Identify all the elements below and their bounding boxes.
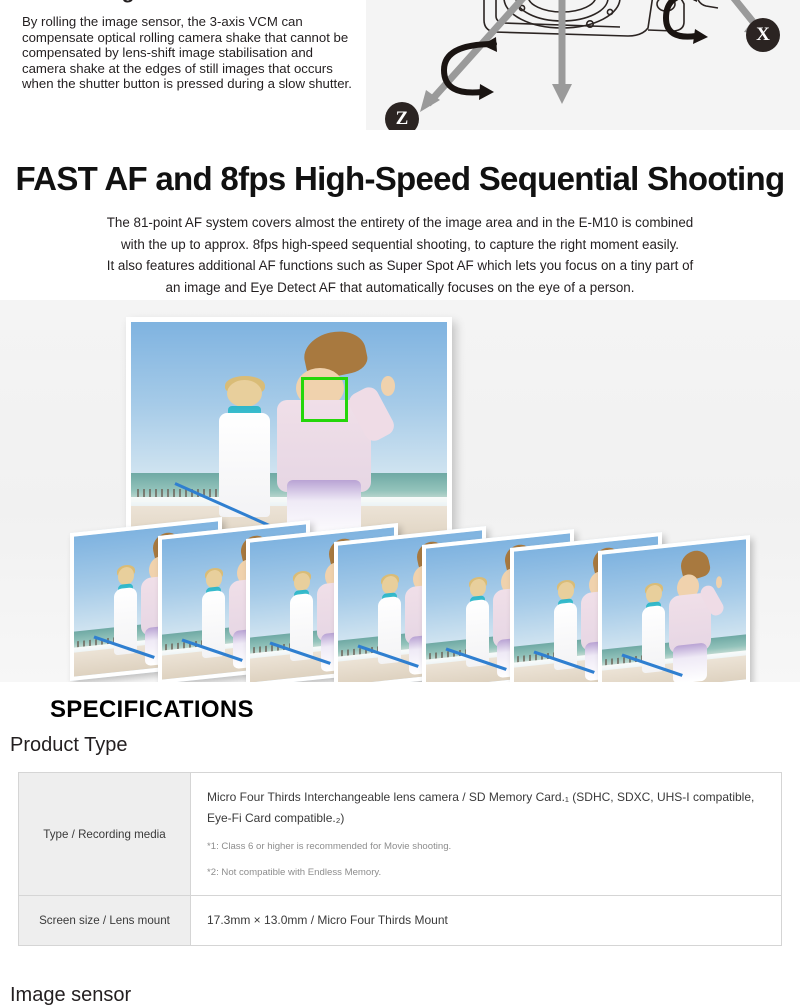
spec-row-label: Type / Recording media <box>19 773 191 896</box>
spec-footnote: *2: Not compatible with Endless Memory. <box>207 864 765 881</box>
table-row: Screen size / Lens mount 17.3mm × 13.0mm… <box>19 896 782 946</box>
spec-group-heading: Product Type <box>10 734 127 757</box>
af-paragraph-line: The 81-point AF system covers almost the… <box>60 212 740 234</box>
image-stabilisation-section: 3-axis Image Stabilisation By rolling th… <box>0 0 800 150</box>
specifications-title: SPECIFICATIONS <box>50 696 254 724</box>
burst-photo-card <box>598 535 750 682</box>
af-section-heading: FAST AF and 8fps High-Speed Sequential S… <box>0 160 800 198</box>
camera-axis-diagram-svg <box>366 0 800 130</box>
spec-row-value: Micro Four Thirds Interchangeable lens c… <box>191 773 782 896</box>
af-focus-box <box>301 377 348 422</box>
stabilisation-description: By rolling the image sensor, the 3-axis … <box>22 14 352 92</box>
spec-value-text: Micro Four Thirds Interchangeable lens c… <box>207 787 765 829</box>
spec-row-label: Screen size / Lens mount <box>19 896 191 946</box>
table-row: Type / Recording media Micro Four Thirds… <box>19 773 782 896</box>
af-section-paragraph: The 81-point AF system covers almost the… <box>60 212 740 298</box>
axis-z-badge: Z <box>385 102 419 130</box>
af-paragraph-line: with the up to approx. 8fps high-speed s… <box>60 234 740 256</box>
spec-row-value: 17.3mm × 13.0mm / Micro Four Thirds Moun… <box>191 896 782 946</box>
af-paragraph-line: an image and Eye Detect AF that automati… <box>60 277 740 299</box>
af-paragraph-line: It also features additional AF functions… <box>60 255 740 277</box>
spec-next-group-heading: Image sensor <box>10 984 131 1007</box>
spec-value-text: 17.3mm × 13.0mm / Micro Four Thirds Moun… <box>207 910 765 931</box>
section-heading-cutoff: 3-axis Image Stabilisation <box>22 0 274 4</box>
specifications-table: Type / Recording media Micro Four Thirds… <box>18 772 782 946</box>
axis-x-badge: X <box>746 18 780 52</box>
spec-footnote: *1: Class 6 or higher is recommended for… <box>207 838 765 855</box>
af-hero-photo <box>126 317 452 549</box>
three-axis-diagram-panel: X Z <box>366 0 800 130</box>
